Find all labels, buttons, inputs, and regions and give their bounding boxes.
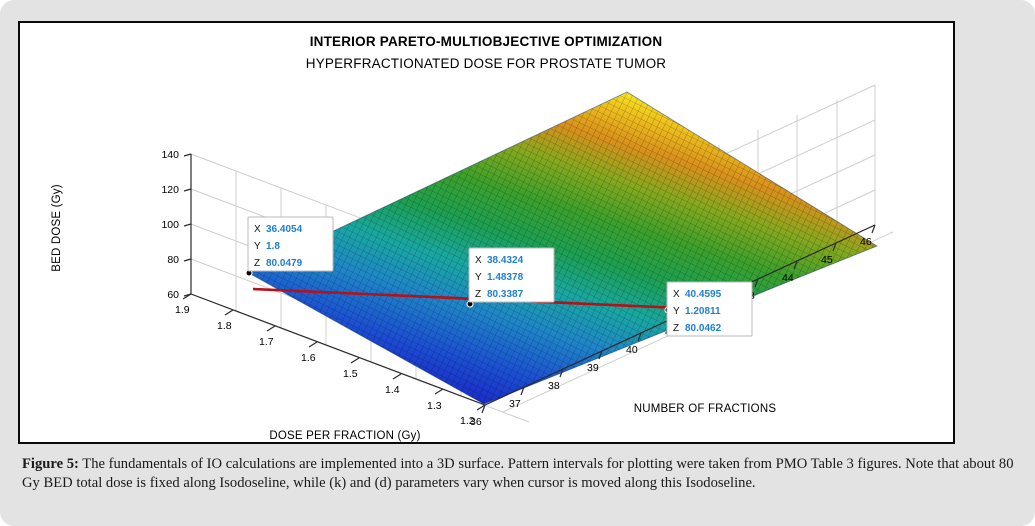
z-tick-60: 60	[167, 289, 179, 301]
z-axis	[184, 154, 191, 296]
surface-mesh	[247, 92, 877, 404]
datatip-middle-x-key: X	[475, 255, 482, 266]
y-axis-label: DOSE PER FRACTION (Gy)	[269, 430, 420, 442]
figure-page: INTERIOR PARETO-MULTIOBJECTIVE OPTIMIZAT…	[0, 0, 1035, 526]
datatip-middle-z-value: 80.3387	[487, 289, 524, 300]
y-tick-1-8: 1.8	[217, 320, 232, 332]
x-tick-45: 45	[821, 254, 833, 266]
x-tick-37: 37	[509, 398, 521, 410]
z-tick-100: 100	[161, 219, 179, 231]
datatip-right-z-value: 80.0462	[685, 323, 722, 334]
x-tick-46: 46	[860, 236, 872, 248]
datatip-middle-x-value: 38.4324	[487, 255, 524, 266]
y-tick-1-5: 1.5	[343, 368, 358, 380]
datatip-right-y-value: 1.20811	[685, 306, 721, 317]
figure-caption: Figure 5: The fundamentals of IO calcula…	[22, 455, 1017, 492]
y-tick-1-6: 1.6	[301, 352, 316, 364]
datatip-left-y-key: Y	[254, 241, 261, 252]
datatip-left-y-value: 1.8	[266, 241, 280, 252]
plot-subtitle: HYPERFRACTIONATED DOSE FOR PROSTATE TUMO…	[306, 56, 667, 71]
datatip-middle[interactable]: X 38.4324 Y 1.48378 Z 80.3387	[467, 248, 554, 307]
figure-caption-label: Figure 5:	[22, 456, 79, 472]
x-tick-44: 44	[782, 272, 794, 284]
datatip-right-x-value: 40.4595	[685, 289, 722, 300]
figure-caption-text: The fundamentals of IO calculations are …	[22, 456, 1014, 491]
z-tick-labels: 140 120 100 80 60	[161, 149, 179, 301]
y-tick-1-7: 1.7	[259, 336, 274, 348]
x-tick-36: 36	[470, 416, 482, 428]
datatip-right-z-key: Z	[673, 323, 679, 334]
datatip-right-y-key: Y	[673, 306, 680, 317]
datatip-left-z-key: Z	[254, 258, 260, 269]
x-tick-38: 38	[548, 380, 560, 392]
z-tick-140: 140	[161, 149, 179, 161]
datatip-left-x-value: 36.4054	[266, 224, 303, 235]
datatip-left-z-value: 80.0479	[266, 258, 303, 269]
y-tick-1-4: 1.4	[385, 384, 400, 396]
y-tick-1-9: 1.9	[175, 304, 190, 316]
plot-title: INTERIOR PARETO-MULTIOBJECTIVE OPTIMIZAT…	[310, 34, 663, 49]
z-axis-label: BED DOSE (Gy)	[51, 184, 63, 272]
datatip-middle-z-key: Z	[475, 289, 481, 300]
figure-panel: INTERIOR PARETO-MULTIOBJECTIVE OPTIMIZAT…	[18, 21, 955, 444]
surface-plot: INTERIOR PARETO-MULTIOBJECTIVE OPTIMIZAT…	[20, 23, 953, 442]
datatip-left-x-key: X	[254, 224, 261, 235]
datatip-left[interactable]: X 36.4054 Y 1.8 Z 80.0479	[246, 217, 333, 276]
datatip-middle-y-key: Y	[475, 272, 482, 283]
x-axis-label: NUMBER OF FRACTIONS	[634, 403, 777, 415]
datatip-middle-y-value: 1.48378	[487, 272, 524, 283]
x-tick-40: 40	[626, 344, 638, 356]
z-tick-120: 120	[161, 184, 179, 196]
datatip-right-x-key: X	[673, 289, 680, 300]
datatip-right[interactable]: X 40.4595 Y 1.20811 Z 80.0462	[665, 282, 752, 336]
y-tick-1-3: 1.3	[427, 400, 442, 412]
x-tick-39: 39	[587, 362, 599, 374]
z-tick-80: 80	[167, 254, 179, 266]
